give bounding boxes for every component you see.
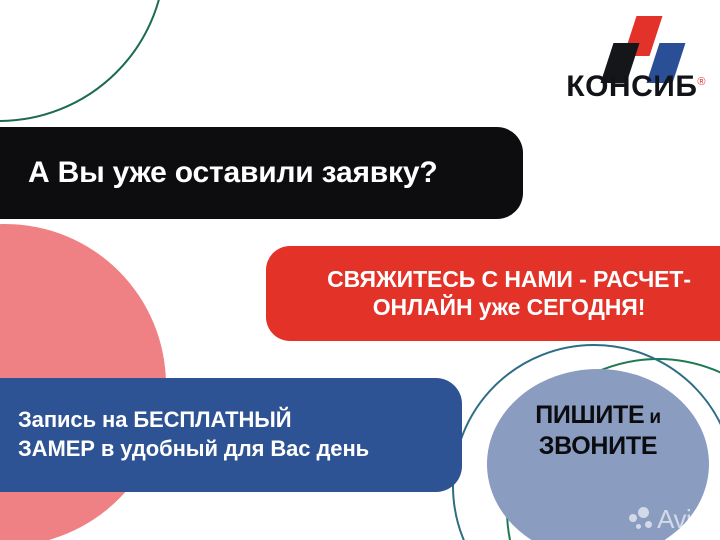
blue-offer-box: Запись на БЕСПЛАТНЫЙ ЗАМЕР в удобный для… — [0, 378, 462, 492]
red-callout-line-2-already: уже — [479, 294, 527, 320]
contact-callout-call: ЗВОНИТЕ — [539, 432, 657, 460]
red-callout-banner: СВЯЖИТЕСЬ С НАМИ - РАСЧЕТ- ОНЛАЙН уже СЕ… — [266, 246, 720, 341]
red-callout-line-2-online: ОНЛАЙН — [373, 294, 479, 320]
logo-mark-icon — [556, 16, 706, 72]
promo-poster: КОНСИБ® А Вы уже оставили заявку? СВЯЖИТ… — [0, 0, 720, 540]
contact-callout: ПИШИТЕ и ЗВОНИТЕ — [487, 400, 709, 461]
blue-offer-line-1: Запись на БЕСПЛАТНЫЙ — [0, 406, 462, 435]
contact-callout-conjunction: и — [644, 407, 660, 428]
blue-offer-line-2: ЗАМЕР в удобный для Вас день — [0, 435, 462, 464]
avito-watermark-label: Avito — [657, 506, 712, 532]
brand-name-text: КОНСИБ — [566, 70, 697, 103]
red-callout-line-2-today: СЕГОДНЯ! — [527, 294, 646, 320]
decorative-ring-top-left — [0, 0, 166, 122]
avito-watermark: Avito — [629, 506, 712, 532]
brand-name: КОНСИБ® — [556, 72, 706, 102]
registered-trademark-icon: ® — [697, 76, 706, 88]
headline-text: А Вы уже оставили заявку? — [0, 156, 437, 190]
red-callout-text: СВЯЖИТЕСЬ С НАМИ - РАСЧЕТ- ОНЛАЙН уже СЕ… — [313, 266, 703, 320]
brand-logo: КОНСИБ® — [556, 16, 706, 108]
avito-dots-icon — [629, 507, 655, 531]
red-callout-line-1: СВЯЖИТЕСЬ С НАМИ - РАСЧЕТ- — [327, 266, 691, 292]
contact-callout-write: ПИШИТЕ — [535, 401, 644, 429]
headline-banner: А Вы уже оставили заявку? — [0, 127, 523, 219]
